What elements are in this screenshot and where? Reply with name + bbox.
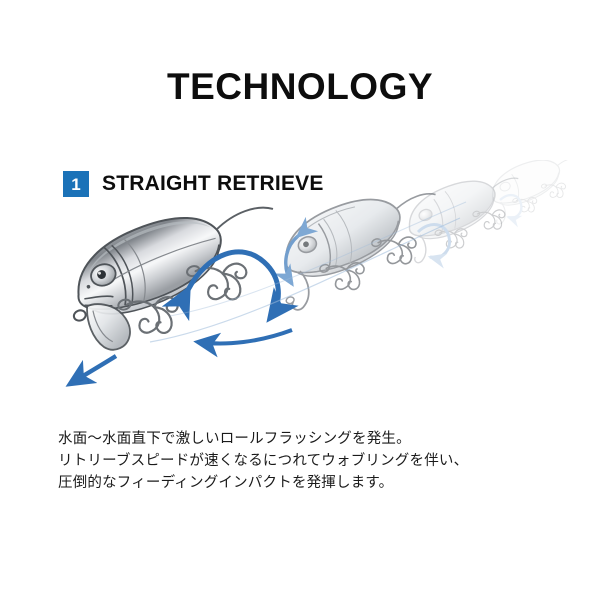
far-lure (395, 163, 534, 264)
lure-illustration (30, 160, 575, 415)
page-title: TECHNOLOGY (0, 68, 600, 105)
description-line-2: リトリーブスピードが速くなるにつれてウォブリングを伴い、 (58, 450, 558, 472)
technology-panel: TECHNOLOGY 1 STRAIGHT RETRIEVE (0, 0, 600, 600)
foreground-lure (53, 183, 300, 384)
description-line-3: 圧倒的なフィーディングインパクトを発揮します。 (58, 472, 558, 494)
mid-lure (262, 173, 457, 312)
description-text: 水面〜水面直下で激しいロールフラッシングを発生。 リトリーブスピードが速くなるに… (58, 428, 558, 494)
description-line-1: 水面〜水面直下で激しいロールフラッシングを発生。 (58, 428, 558, 450)
